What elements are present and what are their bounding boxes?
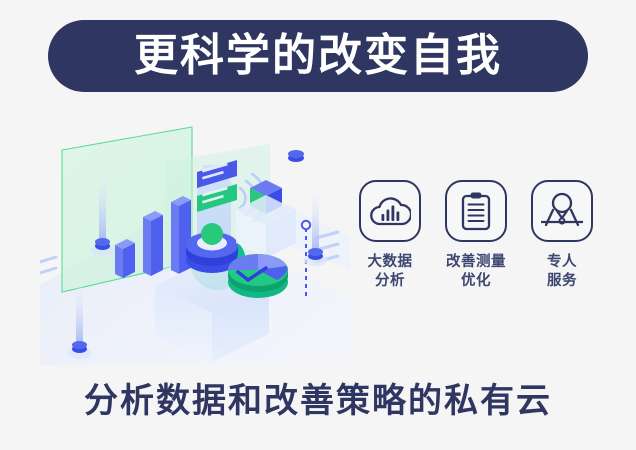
feature-item-big-data[interactable]: 大数据 分析 (352, 180, 428, 291)
clipboard-icon-box (445, 180, 507, 242)
page-title: 更科学的改变自我 (134, 34, 502, 78)
main-stage: 大数据 分析 改善测量 优化 (0, 110, 636, 365)
service-person-icon (540, 191, 584, 231)
feature-item-service[interactable]: 专人 服务 (524, 180, 600, 291)
service-person-icon-box (531, 180, 593, 242)
feature-label-measurement: 改善测量 优化 (446, 253, 506, 291)
measurement-pin-top-right (288, 150, 304, 162)
footer-tagline: 分析数据和改善策略的私有云 (0, 383, 636, 420)
clipboard-icon (459, 191, 493, 231)
cloud-bar-chart-icon (369, 194, 411, 228)
feature-label-big-data: 大数据 分析 (368, 253, 413, 291)
isometric-data-cloud-illustration (40, 110, 350, 365)
feature-list: 大数据 分析 改善测量 优化 (352, 180, 602, 291)
feature-item-measurement[interactable]: 改善测量 优化 (438, 180, 514, 291)
pie-chart-3d (228, 254, 288, 298)
feature-label-service: 专人 服务 (547, 253, 577, 291)
speed-marks-left (40, 257, 56, 273)
cloud-bar-chart-icon-box (359, 180, 421, 242)
header-banner: 更科学的改变自我 (48, 20, 588, 92)
